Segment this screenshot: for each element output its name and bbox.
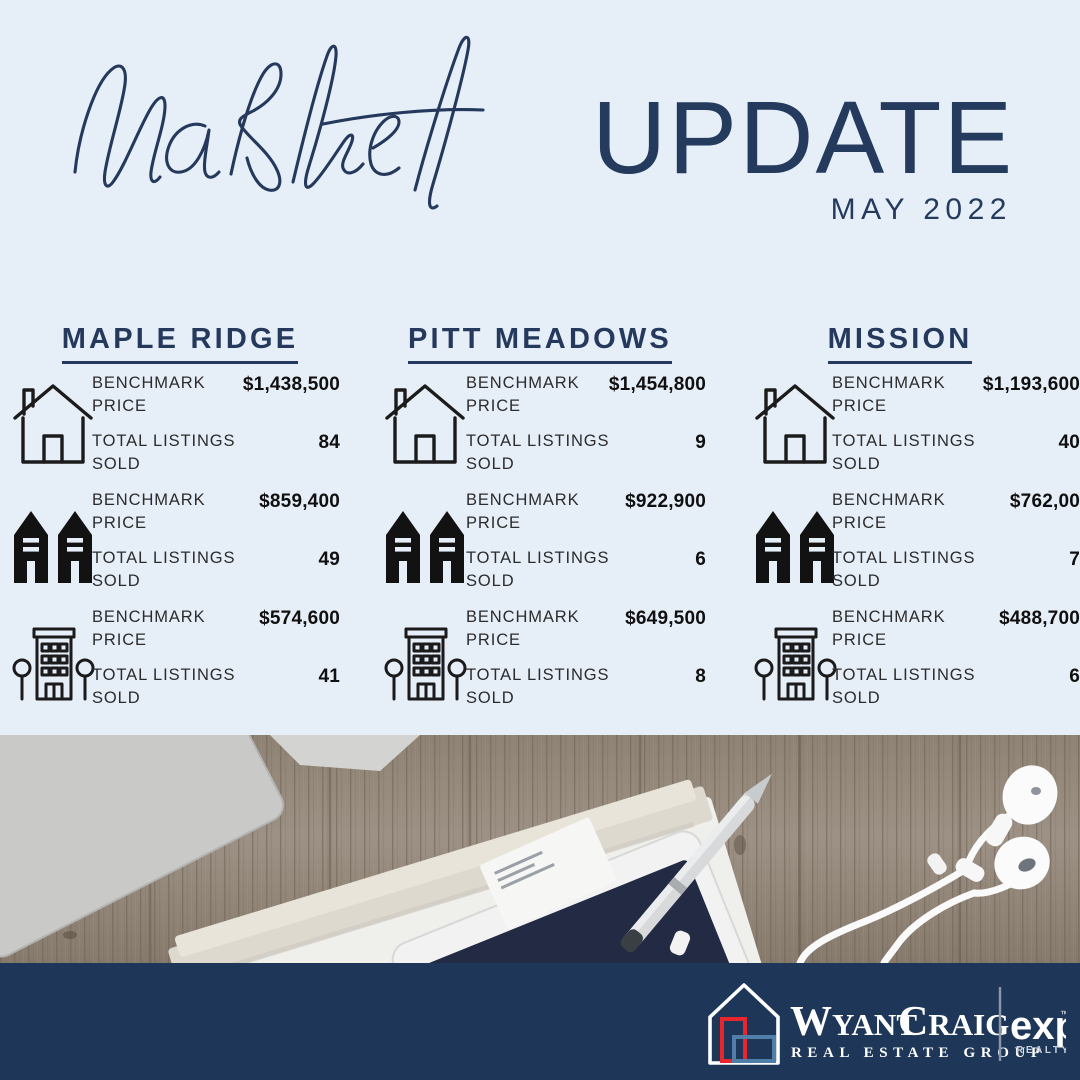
- metric-label: BENCHMARK PRICE: [466, 489, 616, 536]
- property-type-detached: BENCHMARK PRICE $1,193,600 TOTAL LISTING…: [720, 370, 1080, 488]
- header: UPDATE MAY 2022: [0, 0, 1080, 300]
- detached-house-icon: [752, 374, 838, 474]
- apartment-condo-icon: [752, 608, 838, 708]
- city-heading-label: MAPLE RIDGE: [62, 324, 299, 364]
- property-type-duplex: BENCHMARK PRICE $922,900 TOTAL LISTINGS …: [360, 487, 720, 605]
- metric-value: 8: [695, 664, 706, 690]
- city-heading-label: MISSION: [828, 324, 973, 364]
- property-type-condo: BENCHMARK PRICE $574,600 TOTAL LISTINGS …: [0, 604, 360, 722]
- metric-row-listings: TOTAL LISTINGS SOLD 8: [466, 664, 706, 716]
- metric-row-listings: TOTAL LISTINGS SOLD 9: [466, 430, 706, 482]
- desk-photo-band: ESS NEWS: [0, 735, 1080, 963]
- property-type-detached: BENCHMARK PRICE $1,438,500 TOTAL LISTING…: [0, 370, 360, 488]
- metric-value: $649,500: [625, 606, 706, 632]
- metric-label: TOTAL LISTINGS SOLD: [92, 664, 242, 711]
- metric-row-listings: TOTAL LISTINGS SOLD 84: [92, 430, 340, 482]
- metric-row-benchmark: BENCHMARK PRICE $1,438,500: [92, 372, 340, 424]
- city-heading-label: PITT MEADOWS: [408, 324, 672, 364]
- duplex-townhouse-icon: [10, 491, 96, 591]
- property-type-condo: BENCHMARK PRICE $488,700 TOTAL LISTINGS …: [720, 604, 1080, 722]
- brand-tagline: REAL ESTATE GROUP: [791, 1045, 1046, 1061]
- city-heading: PITT MEADOWS: [360, 324, 724, 364]
- city-heading: MISSION: [720, 324, 1080, 364]
- metric-label: TOTAL LISTINGS SOLD: [832, 664, 982, 711]
- property-type-detached: BENCHMARK PRICE $1,454,800 TOTAL LISTING…: [360, 370, 720, 488]
- metric-value: $859,400: [259, 489, 340, 515]
- duplex-townhouse-icon: [382, 491, 468, 591]
- metric-label: BENCHMARK PRICE: [92, 606, 242, 653]
- metric-rows: BENCHMARK PRICE $1,438,500 TOTAL LISTING…: [92, 370, 340, 488]
- metric-value: $762,00: [1010, 489, 1080, 515]
- metric-rows: BENCHMARK PRICE $762,00 TOTAL LISTINGS S…: [832, 487, 1080, 605]
- metric-row-benchmark: BENCHMARK PRICE $1,193,600: [832, 372, 1080, 424]
- metric-label: TOTAL LISTINGS SOLD: [92, 430, 242, 477]
- metric-row-listings: TOTAL LISTINGS SOLD 7: [832, 547, 1080, 599]
- metric-row-listings: TOTAL LISTINGS SOLD 41: [92, 664, 340, 716]
- metric-label: BENCHMARK PRICE: [466, 372, 616, 419]
- page-title: UPDATE: [592, 86, 1014, 189]
- city-heading: MAPLE RIDGE: [0, 324, 378, 364]
- metric-value: $574,600: [259, 606, 340, 632]
- metric-rows: BENCHMARK PRICE $922,900 TOTAL LISTINGS …: [466, 487, 706, 605]
- metric-value: $1,193,600: [983, 372, 1080, 398]
- partner-name: exp: [1010, 1004, 1066, 1048]
- apartment-condo-icon: [10, 608, 96, 708]
- city-column-maple-ridge: MAPLE RIDGE BENCHMAR: [0, 312, 360, 732]
- metric-value: 7: [1069, 547, 1080, 573]
- metric-label: TOTAL LISTINGS SOLD: [832, 547, 982, 594]
- metric-value: $488,700: [999, 606, 1080, 632]
- metric-label: BENCHMARK PRICE: [466, 606, 616, 653]
- metric-row-benchmark: BENCHMARK PRICE $574,600: [92, 606, 340, 658]
- property-type-condo: BENCHMARK PRICE $649,500 TOTAL LISTINGS …: [360, 604, 720, 722]
- metric-label: TOTAL LISTINGS SOLD: [466, 547, 616, 594]
- metric-label: BENCHMARK PRICE: [832, 489, 982, 536]
- svg-text:™: ™: [1060, 1009, 1066, 1019]
- metric-row-benchmark: BENCHMARK PRICE $762,00: [832, 489, 1080, 541]
- city-columns: MAPLE RIDGE BENCHMAR: [0, 312, 1080, 732]
- metric-label: BENCHMARK PRICE: [832, 372, 982, 419]
- metric-value: 9: [695, 430, 706, 456]
- market-script-word: [55, 22, 675, 232]
- detached-house-icon: [10, 374, 96, 474]
- metric-value: 6: [695, 547, 706, 573]
- wyantcraig-exp-logo: WYANT CRAIG REAL ESTATE GROUP exp REALTY…: [676, 973, 1066, 1071]
- property-type-duplex: BENCHMARK PRICE $859,400 TOTAL LISTINGS …: [0, 487, 360, 605]
- metric-value: 6: [1069, 664, 1080, 690]
- metric-value: 41: [318, 664, 340, 690]
- metric-rows: BENCHMARK PRICE $649,500 TOTAL LISTINGS …: [466, 604, 706, 722]
- detached-house-icon: [382, 374, 468, 474]
- metric-value: 40: [1058, 430, 1080, 456]
- metric-row-benchmark: BENCHMARK PRICE $922,900: [466, 489, 706, 541]
- metric-row-benchmark: BENCHMARK PRICE $488,700: [832, 606, 1080, 658]
- metric-label: TOTAL LISTINGS SOLD: [466, 664, 616, 711]
- partner-tagline: REALTY: [1016, 1045, 1066, 1056]
- metric-value: 84: [318, 430, 340, 456]
- house-outline-mark: [710, 985, 778, 1063]
- metric-row-listings: TOTAL LISTINGS SOLD 49: [92, 547, 340, 599]
- metric-row-benchmark: BENCHMARK PRICE $1,454,800: [466, 372, 706, 424]
- brand-name-part2: CRAIG: [898, 999, 1009, 1045]
- property-type-duplex: BENCHMARK PRICE $762,00 TOTAL LISTINGS S…: [720, 487, 1080, 605]
- market-update-graphic: UPDATE MAY 2022 MAPLE RIDGE: [0, 0, 1080, 1080]
- metric-rows: BENCHMARK PRICE $1,454,800 TOTAL LISTING…: [466, 370, 706, 488]
- metric-label: TOTAL LISTINGS SOLD: [92, 547, 242, 594]
- city-column-pitt-meadows: PITT MEADOWS BENCHMARK PRIC: [360, 312, 720, 732]
- metric-value: $1,438,500: [243, 372, 340, 398]
- metric-row-listings: TOTAL LISTINGS SOLD 40: [832, 430, 1080, 482]
- metric-rows: BENCHMARK PRICE $859,400 TOTAL LISTINGS …: [92, 487, 340, 605]
- metric-label: TOTAL LISTINGS SOLD: [832, 430, 982, 477]
- city-column-mission: MISSION BENCHMARK PRICE: [720, 312, 1080, 732]
- metric-row-benchmark: BENCHMARK PRICE $859,400: [92, 489, 340, 541]
- footer-bar: WYANT CRAIG REAL ESTATE GROUP exp REALTY…: [0, 963, 1080, 1080]
- metric-value: $1,454,800: [609, 372, 706, 398]
- month-year-label: MAY 2022: [831, 193, 1012, 227]
- metric-rows: BENCHMARK PRICE $1,193,600 TOTAL LISTING…: [832, 370, 1080, 488]
- metric-row-benchmark: BENCHMARK PRICE $649,500: [466, 606, 706, 658]
- metric-label: BENCHMARK PRICE: [92, 489, 242, 536]
- metric-rows: BENCHMARK PRICE $488,700 TOTAL LISTINGS …: [832, 604, 1080, 722]
- metric-row-listings: TOTAL LISTINGS SOLD 6: [466, 547, 706, 599]
- metric-label: TOTAL LISTINGS SOLD: [466, 430, 616, 477]
- metric-label: BENCHMARK PRICE: [92, 372, 242, 419]
- metric-rows: BENCHMARK PRICE $574,600 TOTAL LISTINGS …: [92, 604, 340, 722]
- metric-row-listings: TOTAL LISTINGS SOLD 6: [832, 664, 1080, 716]
- apartment-condo-icon: [382, 608, 468, 708]
- duplex-townhouse-icon: [752, 491, 838, 591]
- metric-value: 49: [318, 547, 340, 573]
- metric-label: BENCHMARK PRICE: [832, 606, 982, 653]
- metric-value: $922,900: [625, 489, 706, 515]
